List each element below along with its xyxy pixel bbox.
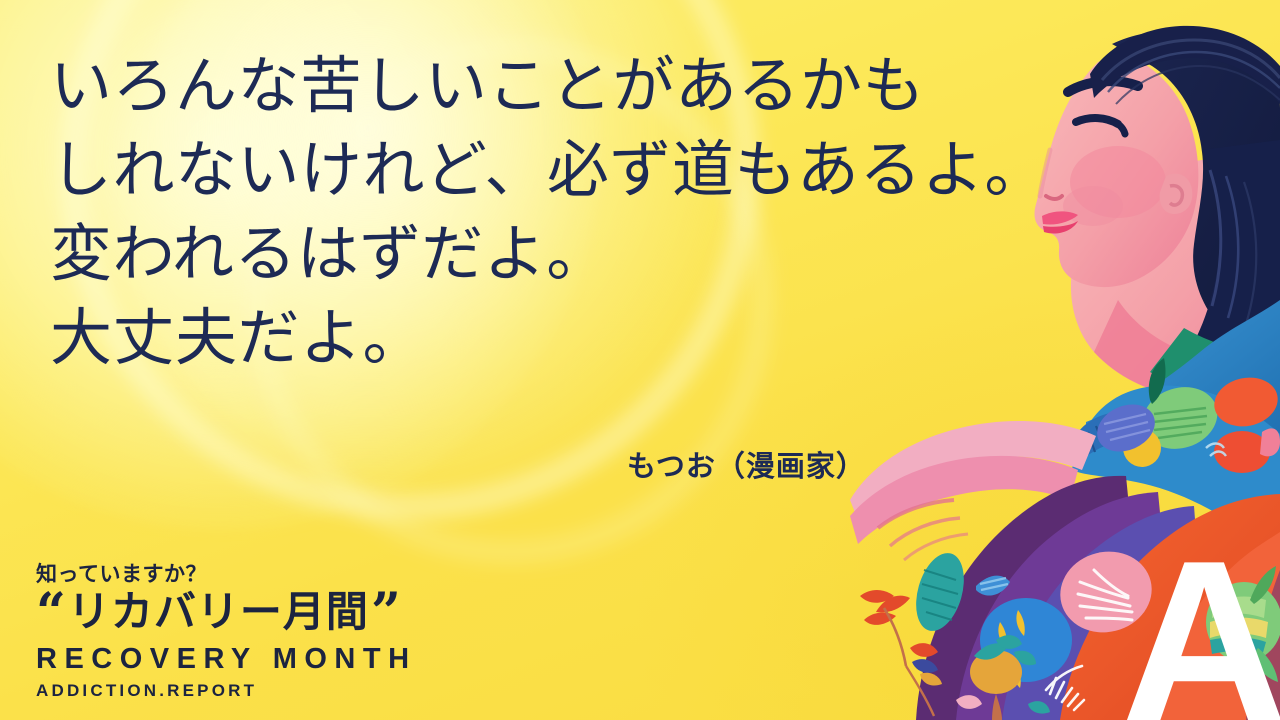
quote-attribution: もつお（漫画家）: [627, 443, 866, 485]
quote-line-3: 変われるはずだよ。: [50, 212, 1090, 296]
quote-line-2: しれないけれど、必ず道もあるよ。: [50, 128, 1090, 212]
recovery-month-poster: いろんな苦しいことがあるかも しれないけれど、必ず道もあるよ。 変われるはずだよ…: [0, 0, 1280, 720]
quote-line-1: いろんな苦しいことがあるかも: [50, 44, 1090, 128]
quote-open-icon: “: [36, 591, 66, 636]
quote-line-4: 大丈夫だよ。: [50, 296, 1090, 380]
logo-kicker: 知っていますか？: [36, 563, 417, 586]
logo-campaign-en: RECOVERY MONTH: [36, 641, 417, 677]
logo-url[interactable]: ADDICTION.REPORT: [36, 680, 417, 702]
logo-campaign-jp-row: “ リカバリー月間 ”: [36, 591, 417, 636]
quote-text: いろんな苦しいことがあるかも しれないけれど、必ず道もあるよ。 変われるはずだよ…: [50, 44, 1090, 380]
logo-campaign-jp: リカバリー月間: [68, 591, 369, 633]
recovery-month-logo[interactable]: 知っていますか？ “ リカバリー月間 ” RECOVERY MONTH ADDI…: [36, 563, 417, 702]
quote-close-icon: ”: [371, 591, 401, 636]
